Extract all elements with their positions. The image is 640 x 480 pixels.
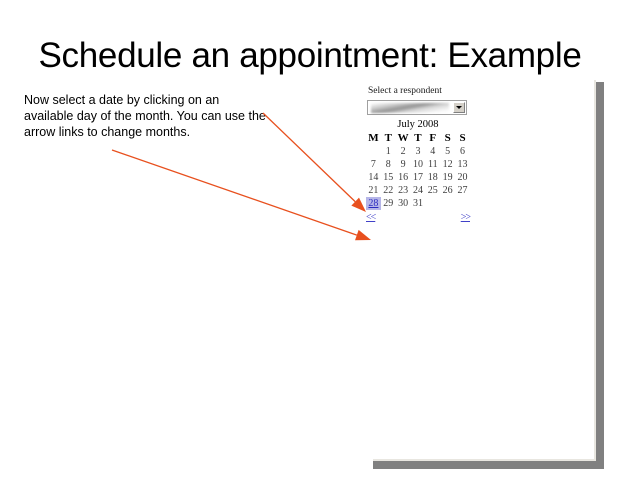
calendar-week-row: 21 22 23 24 25 26 27 xyxy=(366,184,470,197)
calendar-weekday-header: T xyxy=(381,131,396,145)
calendar-day-cell: 4 xyxy=(425,145,440,158)
calendar-week-row: 1 2 3 4 5 6 xyxy=(366,145,470,158)
calendar-day-cell: 18 xyxy=(425,171,440,184)
calendar-prev-month-link[interactable]: << xyxy=(366,212,375,223)
calendar-day-cell: 25 xyxy=(425,184,440,197)
calendar-day-cell xyxy=(455,197,470,210)
calendar-weekday-header: M xyxy=(366,131,381,145)
calendar-day-cell: 29 xyxy=(381,197,396,210)
respondent-select-label: Select a respondent xyxy=(368,86,476,96)
calendar-day-cell: 21 xyxy=(366,184,381,197)
calendar-day-cell: 30 xyxy=(396,197,411,210)
calendar-day-cell: 11 xyxy=(425,158,440,171)
page-title: Schedule an appointment: Example xyxy=(0,36,620,76)
calendar-weekday-header: T xyxy=(411,131,426,145)
arrow-to-day-28-head xyxy=(351,198,366,212)
calendar-day-cell: 16 xyxy=(396,171,411,184)
calendar-day-cell: 20 xyxy=(455,171,470,184)
calendar-weekday-header: S xyxy=(440,131,455,145)
calendar-day-cell: 9 xyxy=(396,158,411,171)
arrow-to-month-links-shaft xyxy=(112,150,357,235)
calendar-day-cell: 3 xyxy=(411,145,426,158)
calendar-weekday-header: F xyxy=(425,131,440,145)
slide-drop-shadow-bottom xyxy=(373,461,604,469)
calendar-weekday-header-row: M T W T F S S xyxy=(366,131,470,145)
chevron-down-icon[interactable] xyxy=(453,102,465,113)
calendar-day-cell: 19 xyxy=(440,171,455,184)
calendar-weekday-header: S xyxy=(455,131,470,145)
calendar-day-cell: 13 xyxy=(455,158,470,171)
calendar-day-cell: 27 xyxy=(455,184,470,197)
calendar-week-row: 7 8 9 10 11 12 13 xyxy=(366,158,470,171)
calendar-day-cell: 6 xyxy=(455,145,470,158)
calendar-day-cell: 24 xyxy=(411,184,426,197)
calendar-day-cell: 1 xyxy=(381,145,396,158)
calendar-weekday-header: W xyxy=(396,131,411,145)
calendar-day-cell: 15 xyxy=(381,171,396,184)
calendar-table: M T W T F S S 1 2 3 4 5 6 7 8 9 xyxy=(366,131,470,210)
calendar-day-cell: 22 xyxy=(381,184,396,197)
calendar-day-cell: 23 xyxy=(396,184,411,197)
calendar-day-cell: 2 xyxy=(396,145,411,158)
calendar-day-cell-selected[interactable]: 28 xyxy=(366,197,381,210)
calendar-week-row: 28 29 30 31 xyxy=(366,197,470,210)
arrow-to-day-28-shaft xyxy=(263,113,355,202)
calendar-navigation: << >> xyxy=(366,212,470,223)
calendar-day-cell: 17 xyxy=(411,171,426,184)
appointment-calendar-widget: Select a respondent July 2008 M T W T F … xyxy=(366,86,476,223)
calendar-day-cell xyxy=(440,197,455,210)
arrow-to-month-links-head xyxy=(355,230,371,240)
calendar-day-cell: 31 xyxy=(411,197,426,210)
calendar-day-cell xyxy=(366,145,381,158)
calendar-day-cell: 7 xyxy=(366,158,381,171)
calendar-day-cell: 26 xyxy=(440,184,455,197)
calendar-day-cell: 10 xyxy=(411,158,426,171)
calendar-day-cell: 14 xyxy=(366,171,381,184)
calendar-month-title: July 2008 xyxy=(366,119,470,130)
calendar-day-cell: 5 xyxy=(440,145,455,158)
calendar-day-cell: 12 xyxy=(440,158,455,171)
calendar-day-cell xyxy=(425,197,440,210)
respondent-selected-value xyxy=(371,103,449,113)
calendar-week-row: 14 15 16 17 18 19 20 xyxy=(366,171,470,184)
slide-drop-shadow-right xyxy=(596,82,604,462)
instruction-text: Now select a date by clicking on an avai… xyxy=(24,92,269,140)
calendar-day-cell: 8 xyxy=(381,158,396,171)
respondent-select[interactable] xyxy=(367,100,467,115)
calendar-next-month-link[interactable]: >> xyxy=(461,212,470,223)
